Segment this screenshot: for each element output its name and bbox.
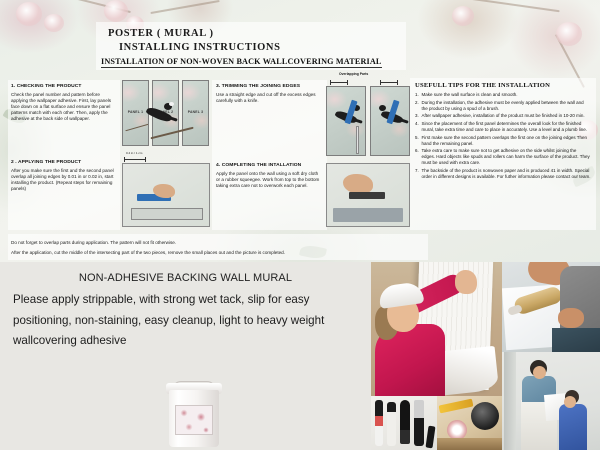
adhesive-tray: [552, 328, 600, 352]
adhesive-bucket: [471, 402, 499, 430]
wall-surface-illustration: [333, 208, 403, 222]
step-4-body: Apply the panel onto the wall using a so…: [216, 171, 322, 190]
tip-item: 2. During the installation, the adhesive…: [415, 100, 591, 112]
application-notes: Do not forget to overlap parts during ap…: [11, 238, 285, 258]
tip-item: 4. Since the placement of the first pane…: [415, 121, 591, 133]
blossom-decoration: [452, 6, 474, 26]
tips-heading: USEFULL TIPS FOR THE INSTALLATION: [415, 82, 591, 89]
tool-squeegee: [400, 400, 410, 444]
bird-marking-illustration: [169, 102, 174, 106]
door-frame: [504, 352, 516, 450]
man-face: [533, 366, 546, 379]
mural-panel-3: PANEL 3: [182, 80, 209, 146]
branch-decoration: [150, 0, 219, 14]
step-3-heading: 3. TRIMMING THE JOINING EDGES: [216, 84, 322, 89]
title-line-1: POSTER ( MURAL ): [108, 27, 281, 41]
photo-man-and-boy-installing: [502, 352, 600, 450]
photo-installation-tools: [371, 396, 437, 450]
blossom-decoration: [556, 22, 582, 46]
tool-level: [439, 399, 474, 414]
photo-hands-with-roller: [502, 262, 600, 352]
title-line-2: INSTALLING INSTRUCTIONS: [108, 41, 281, 55]
step-3-body: Use a straight edge and cut off the exce…: [216, 92, 322, 104]
dimension-line: [380, 82, 398, 83]
poster-title: POSTER ( MURAL ) INSTALLING INSTRUCTIONS: [108, 27, 281, 55]
dimension-line: [124, 159, 146, 160]
dimension-cap-right: [347, 80, 348, 85]
tip-item: 3. After wallpaper adhesive, installatio…: [415, 113, 591, 119]
woman-hand: [455, 270, 477, 294]
product-headline: NON-ADHESIVE BACKING WALL MURAL: [0, 272, 371, 284]
diagram-three-panels: PANEL 1 PANEL 2 PANEL 3: [122, 80, 210, 148]
step-2-heading: 2 . APPLYING THE PRODUCT: [11, 160, 115, 165]
step-1-body: Check the panel number and pattern befor…: [11, 92, 115, 123]
step-applying-the-product: 2 . APPLYING THE PRODUCT After you make …: [11, 160, 115, 192]
blossom-decoration: [104, 0, 128, 22]
step-1-heading: 1. CHECKING THE PRODUCT: [11, 84, 115, 89]
diagram-completing-installation: [326, 163, 410, 227]
overlap-bar-right: [380, 80, 398, 85]
bucket-label: [175, 405, 213, 435]
hand-illustration: [343, 174, 373, 194]
step-completing-the-installation: 4. COMPLETING THE INTALLATION Apply the …: [216, 163, 322, 189]
diagram-trimming-edges: [326, 86, 410, 158]
step-4-heading: 4. COMPLETING THE INTALLATION: [216, 163, 322, 168]
twig-decoration: [125, 124, 148, 132]
tip-text: During the installation, the adhesive mu…: [422, 100, 592, 112]
boy-face: [564, 396, 576, 408]
adhesive-bucket-image: [166, 381, 222, 447]
boy-shirt: [559, 404, 587, 450]
overlap-dimension-label: 0.4 in / 1 cm: [126, 151, 142, 155]
tip-item: 7. The backside of the product is nonwov…: [415, 168, 591, 180]
tool-brush: [375, 400, 383, 446]
tip-text: After wallpaper adhesive, installation o…: [422, 113, 592, 119]
installation-tips: USEFULL TIPS FOR THE INSTALLATION 1. Mak…: [415, 82, 591, 182]
dimension-cap-left: [380, 80, 381, 85]
note-line-2: After the application, cut the middle of…: [11, 248, 285, 258]
work-bench: [437, 438, 502, 450]
blossom-decoration: [44, 14, 64, 32]
tip-item: 5. First make sure the second pattern ov…: [415, 135, 591, 147]
panel-3-label: PANEL 3: [188, 110, 203, 114]
step-trimming-the-joining-edges: 3. TRIMMING THE JOINING EDGES Use a stra…: [216, 84, 322, 104]
tool-smoother: [387, 402, 396, 446]
step-checking-the-product: 1. CHECKING THE PRODUCT Check the panel …: [11, 84, 115, 123]
product-description-text: Please apply strippable, with strong wet…: [13, 290, 365, 352]
photo-woman-hanging-wallpaper: [371, 262, 502, 396]
photo-collage: [371, 262, 600, 450]
note-line-1: Do not forget to overlap parts during ap…: [11, 238, 285, 248]
tip-text: Since the placement of the first panel d…: [422, 121, 592, 133]
overlap-dimension-bar: [124, 157, 146, 162]
hand-illustration: [153, 184, 175, 198]
tip-item: 6. Take extra care to make sure not to g…: [415, 148, 591, 166]
overlap-bar-left: [330, 80, 348, 85]
tip-text: The backside of the product is nonwoven …: [422, 168, 592, 180]
overlapping-parts-label: Overlapping Parts: [339, 72, 368, 76]
diagram-applying-panel: [122, 163, 210, 227]
mural-panel-1: PANEL 1: [122, 80, 149, 146]
poster-instruction-sheet: POSTER ( MURAL ) INSTALLING INSTRUCTIONS…: [0, 0, 600, 450]
tool-scraper: [414, 400, 424, 446]
tip-text: First make sure the second pattern overl…: [422, 135, 592, 147]
tip-text: Make sure the wall surface is clean and …: [422, 92, 592, 98]
dimension-cap-left: [330, 80, 331, 85]
dimension-cap-right: [397, 80, 398, 85]
dimension-cap-left: [124, 157, 125, 162]
squeegee-illustration: [349, 192, 385, 199]
step-2-body: After you make sure the first and the se…: [11, 168, 115, 193]
branch-decoration: [470, 0, 559, 12]
panel-1-label: PANEL 1: [128, 110, 143, 114]
worker-hand: [558, 308, 584, 328]
dimension-cap-right: [145, 157, 146, 162]
photo-tools-on-bench: [437, 396, 502, 450]
dimension-line: [330, 82, 348, 83]
tip-item: 1. Make sure the wall surface is clean a…: [415, 92, 591, 98]
blossom-decoration: [16, 2, 42, 26]
wall-surface-illustration: [131, 208, 203, 220]
tip-text: Take extra care to make sure not to get …: [422, 148, 592, 166]
poster-subtitle: INSTALLATION OF NON-WOVEN BACK WALLCOVER…: [101, 57, 382, 68]
tool-knife: [426, 426, 436, 449]
straight-edge-illustration: [356, 126, 359, 154]
